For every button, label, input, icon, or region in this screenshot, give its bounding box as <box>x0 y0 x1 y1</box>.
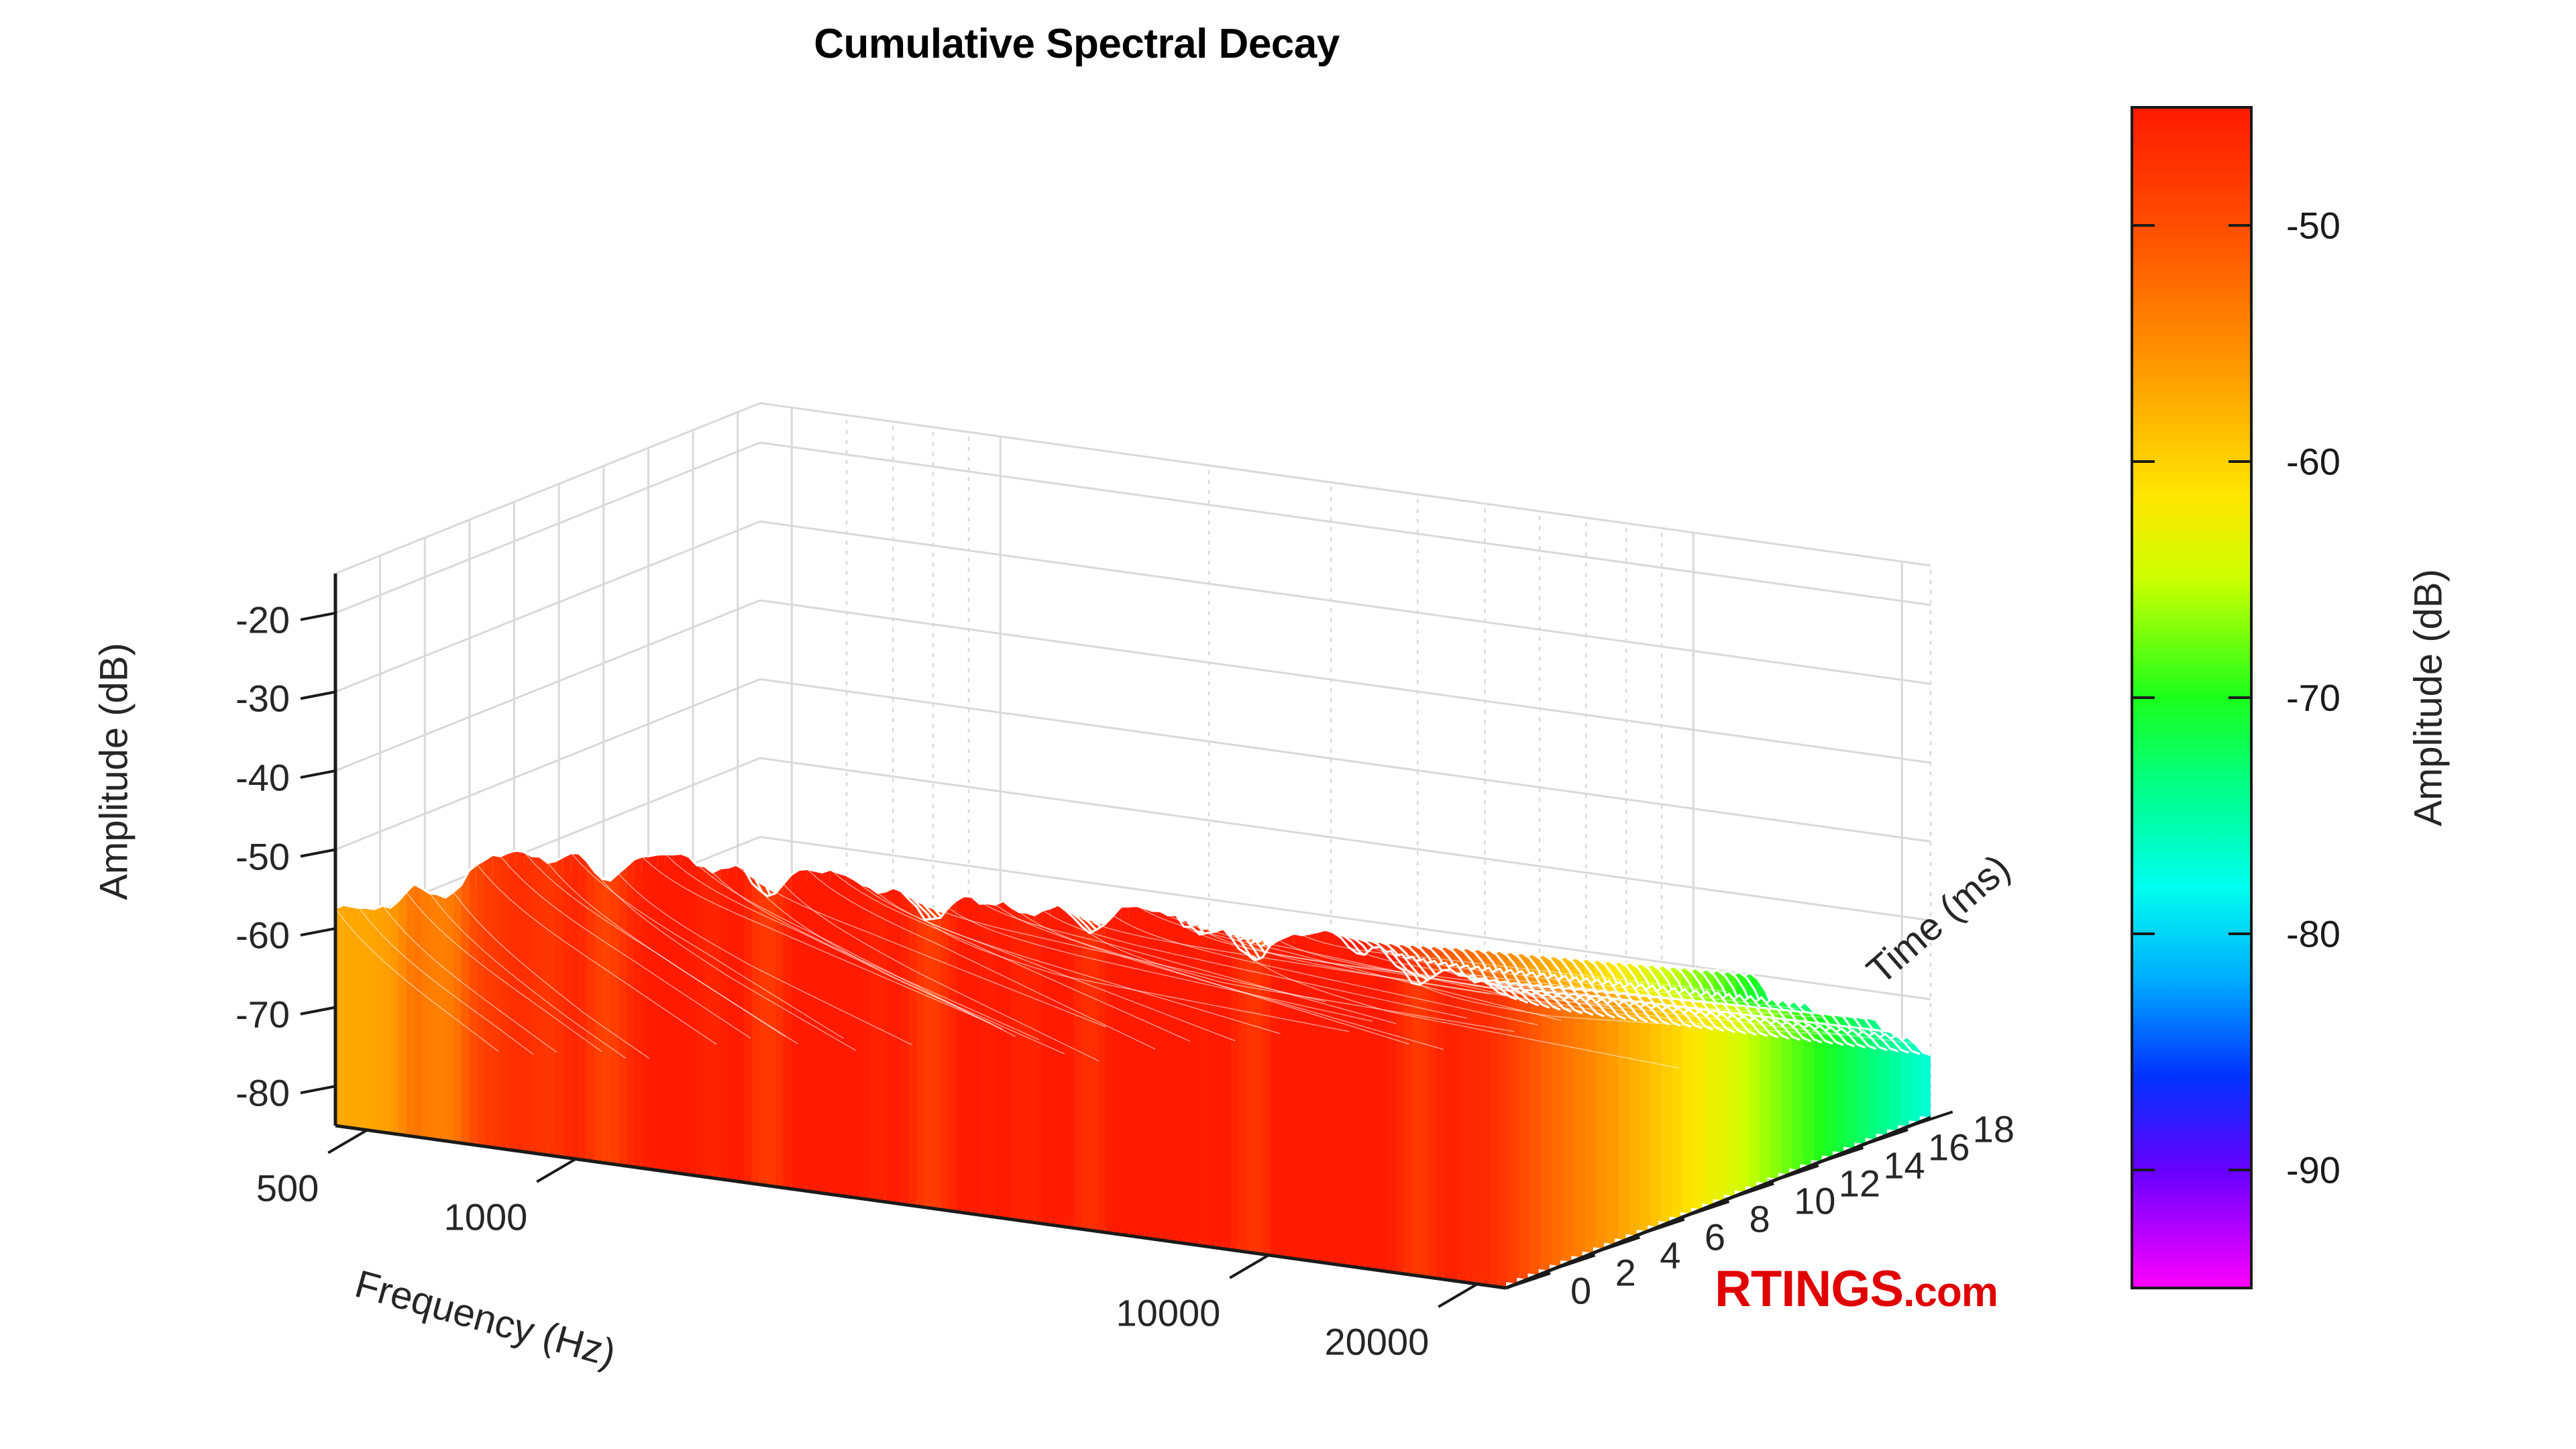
tick-label: -90 <box>2286 1148 2341 1192</box>
tick-label: 14 <box>1883 1143 1925 1187</box>
colorbar-label: Amplitude (dB) <box>2406 569 2451 826</box>
brand-tld: .com <box>1903 1269 1998 1316</box>
tick-label: -50 <box>235 835 290 878</box>
tick-label: 20000 <box>1325 1320 1430 1364</box>
tick-label: -70 <box>2286 676 2341 720</box>
z-axis-label: Amplitude (dB) <box>92 643 137 900</box>
tick-label: 16 <box>1928 1126 1970 1169</box>
tick-label: -40 <box>235 755 290 799</box>
tick-label: 500 <box>256 1166 319 1210</box>
tick-label: 0 <box>1570 1269 1591 1313</box>
tick-label: 4 <box>1660 1233 1680 1277</box>
tick-label: 8 <box>1750 1197 1770 1241</box>
tick-label: 18 <box>1973 1108 2015 1151</box>
rtings-watermark: RTINGS.com <box>1715 1260 1998 1318</box>
tick-label: 10 <box>1794 1179 1835 1223</box>
waterfall-surface <box>335 851 1931 1288</box>
tick-label: -70 <box>235 992 290 1036</box>
tick-label: -80 <box>2286 912 2341 956</box>
csd-surface-plot <box>0 0 2576 1449</box>
brand-name: RTINGS <box>1715 1260 1903 1318</box>
tick-label: 6 <box>1705 1215 1725 1258</box>
tick-label: -50 <box>2286 204 2341 248</box>
tick-label: -20 <box>235 598 290 641</box>
chart-canvas: Cumulative Spectral Decay Am <box>0 0 2576 1449</box>
tick-label: -80 <box>235 1071 290 1115</box>
tick-label: 1000 <box>444 1195 528 1238</box>
tick-label: -60 <box>235 914 290 957</box>
tick-label: 10000 <box>1116 1291 1221 1334</box>
tick-label: -60 <box>2286 440 2341 484</box>
tick-label: -30 <box>235 677 290 720</box>
tick-label: 2 <box>1615 1251 1636 1295</box>
tick-label: 12 <box>1839 1161 1880 1205</box>
